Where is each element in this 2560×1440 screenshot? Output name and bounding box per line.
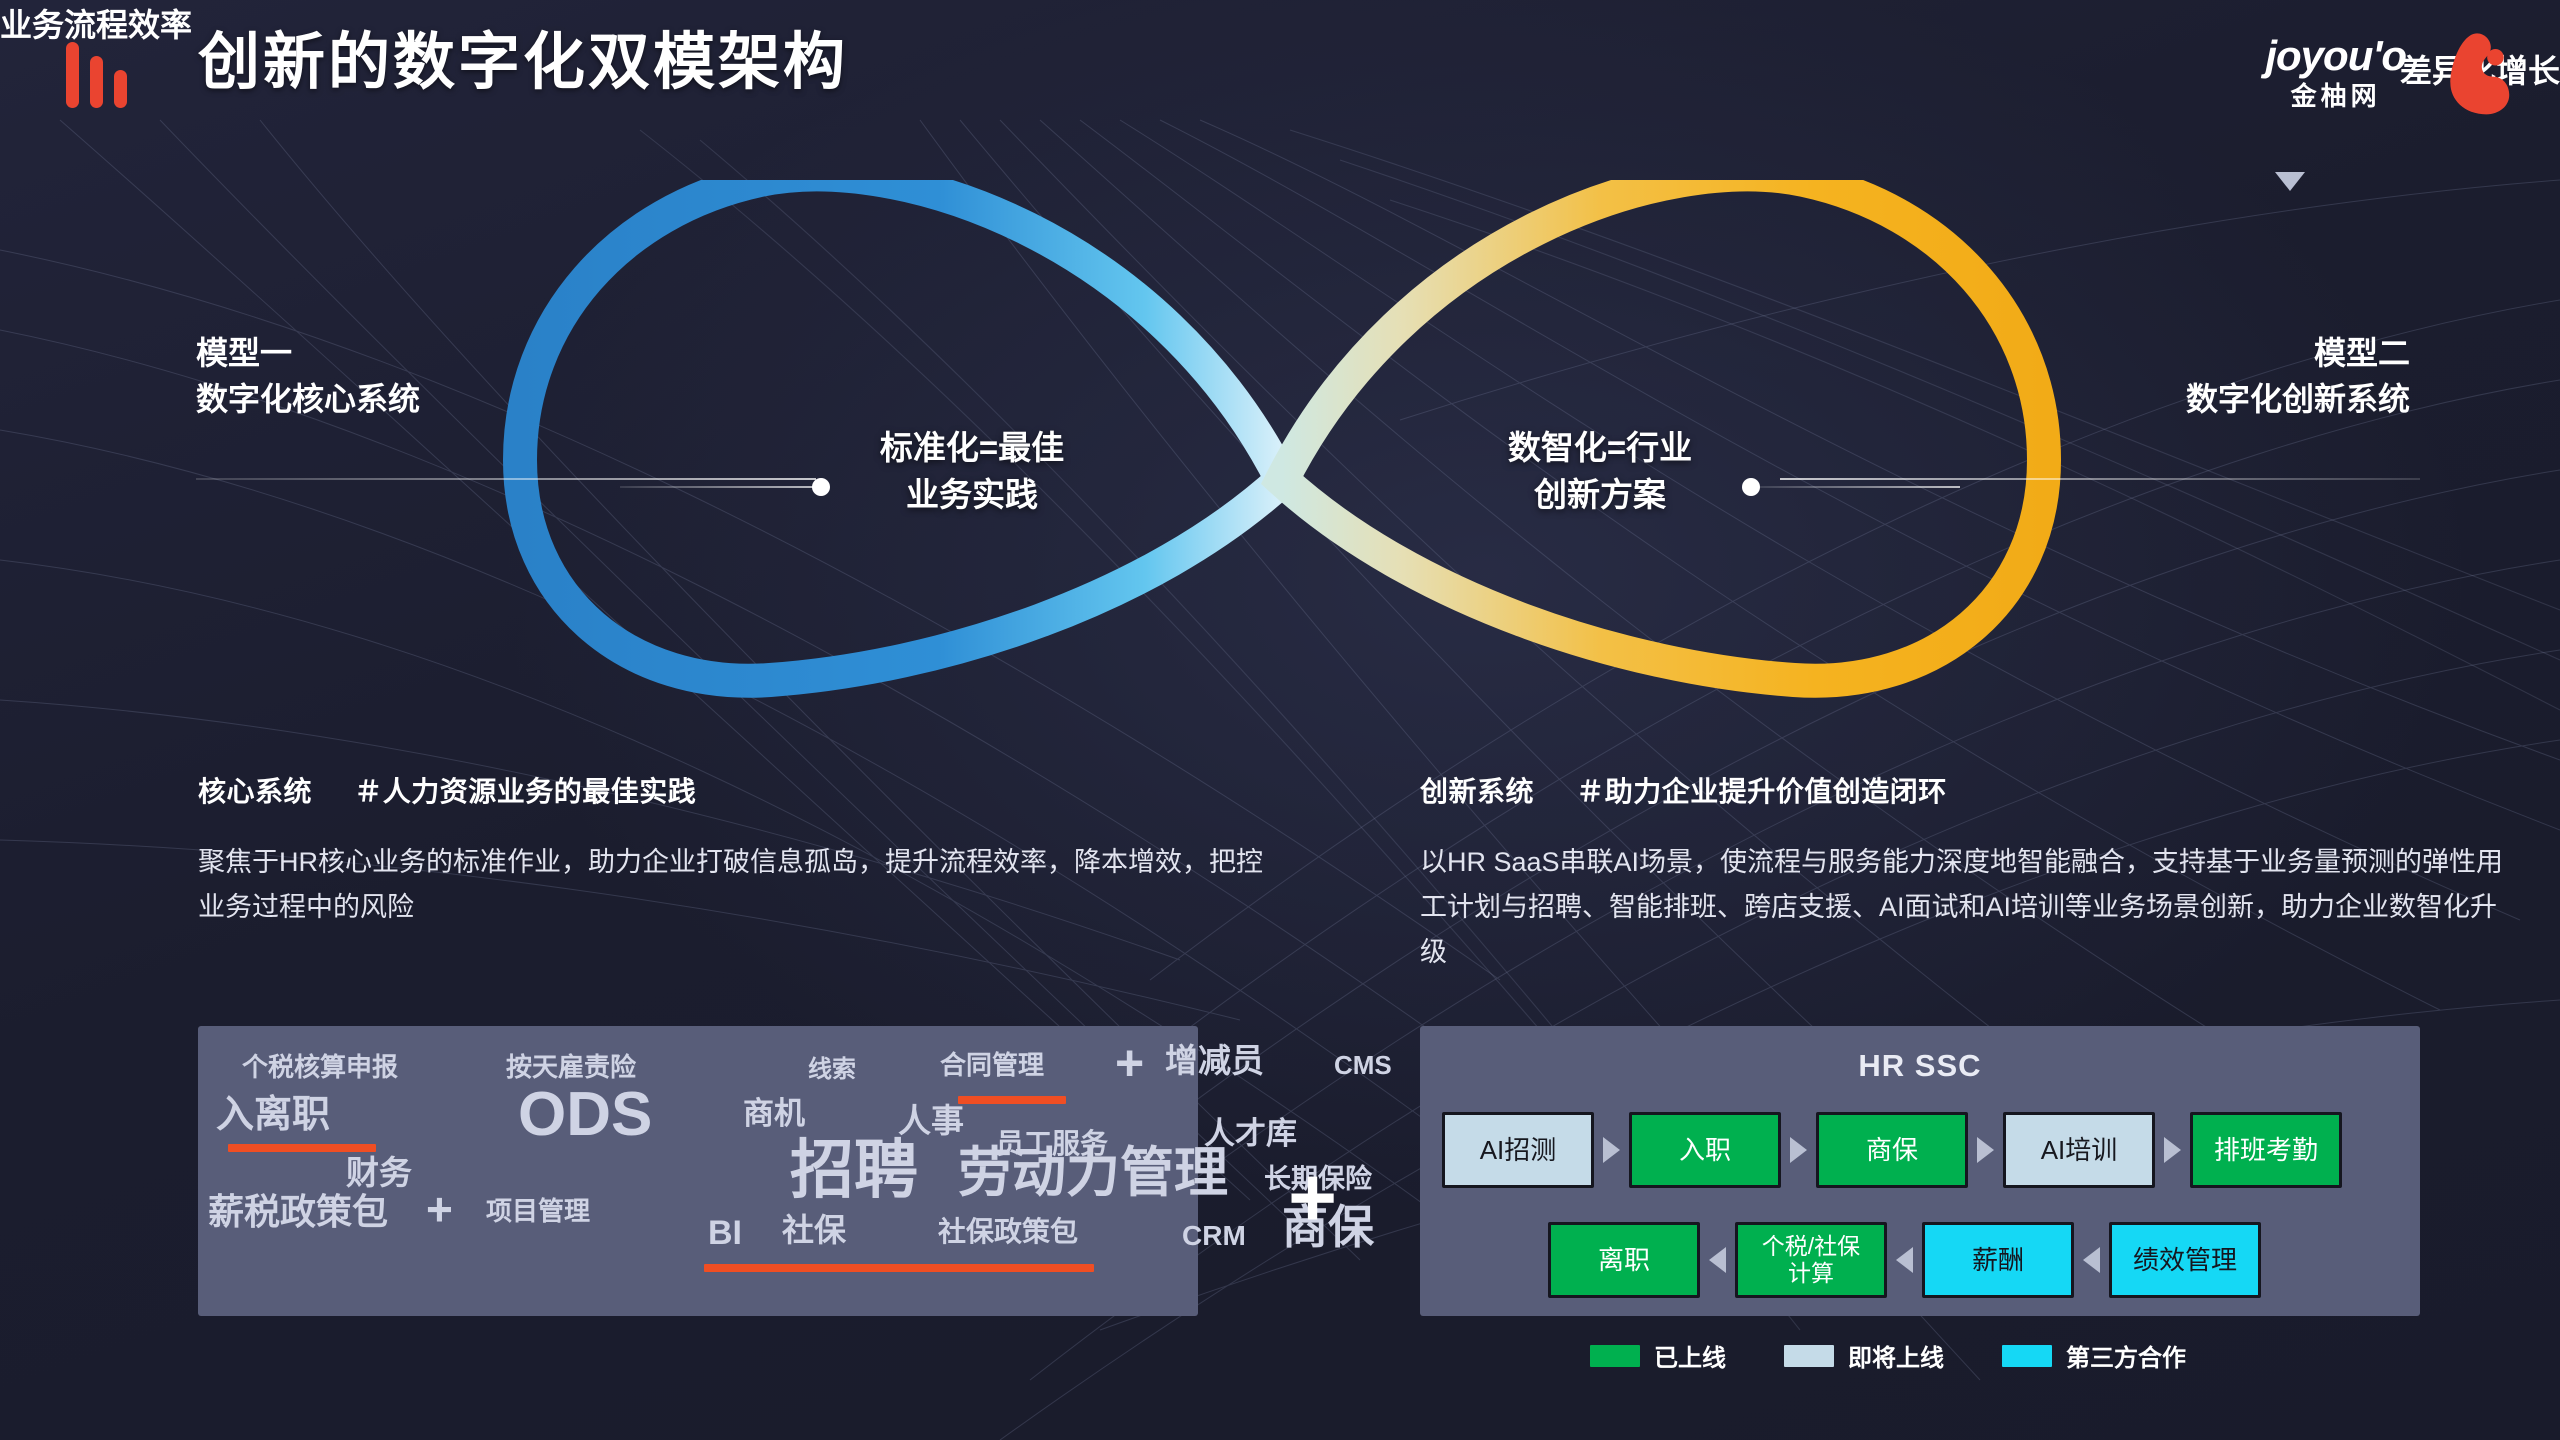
legend-swatch bbox=[1590, 1345, 1640, 1367]
flow-node[interactable]: 入职 bbox=[1629, 1112, 1781, 1188]
infinity-loop-diagram bbox=[0, 180, 2560, 740]
flow-node[interactable]: 排班考勤 bbox=[2190, 1112, 2342, 1188]
word-cloud-term: ODS bbox=[518, 1084, 652, 1146]
legend-item: 即将上线 bbox=[1784, 1338, 1944, 1373]
flow-arrow-icon bbox=[1896, 1247, 1913, 1273]
slide-root: 创新的数字化双模架构 joyou'o 金柚网 bbox=[0, 0, 2560, 1440]
core-system-heading: 核心系统 ＃人力资源业务的最佳实践 bbox=[198, 770, 1263, 810]
word-cloud-term: 个税核算申报 bbox=[242, 1054, 398, 1080]
right-model-label: 模型二 数字化创新系统 bbox=[2186, 330, 2410, 423]
left-model-label: 模型一 数字化核心系统 bbox=[196, 330, 420, 423]
word-cloud-term: 招聘 bbox=[790, 1138, 918, 1202]
flow-node[interactable]: 薪酬 bbox=[1922, 1222, 2074, 1298]
word-cloud-term: 增减员 bbox=[1165, 1044, 1264, 1077]
flow-arrow-icon bbox=[1603, 1137, 1620, 1163]
left-node-dot bbox=[812, 478, 830, 496]
right-center-line2: 创新方案 bbox=[1480, 472, 1720, 519]
flow-arrow-icon bbox=[1709, 1247, 1726, 1273]
word-cloud-term: 入离职 bbox=[216, 1096, 330, 1134]
right-center-line1: 数智化=行业 bbox=[1480, 425, 1720, 472]
left-center-line2: 业务实践 bbox=[852, 472, 1092, 519]
word-cloud-term: CMS bbox=[1334, 1052, 1392, 1078]
innovation-system-title: 创新系统 bbox=[1420, 776, 1534, 807]
word-cloud-term: 人事 bbox=[898, 1104, 964, 1137]
right-model-line1: 模型二 bbox=[2186, 330, 2410, 376]
legend-swatch bbox=[1784, 1345, 1834, 1367]
right-connector-line bbox=[1760, 486, 1960, 488]
word-cloud-term: + bbox=[426, 1186, 453, 1232]
page-title: 创新的数字化双模架构 bbox=[198, 24, 848, 102]
left-connector-line bbox=[620, 486, 820, 488]
legend-swatch bbox=[2002, 1345, 2052, 1367]
legend-item: 第三方合作 bbox=[2002, 1338, 2186, 1373]
word-cloud-term: 项目管理 bbox=[486, 1198, 590, 1224]
word-cloud-term: 按天雇责险 bbox=[506, 1054, 636, 1080]
flow-down-arrow-icon bbox=[2275, 172, 2305, 191]
word-cloud-term: + bbox=[1115, 1038, 1144, 1088]
panel-plus-sign: + bbox=[1288, 1155, 1337, 1239]
word-cloud-term: 线索 bbox=[808, 1058, 856, 1082]
left-center-line1: 标准化=最佳 bbox=[852, 425, 1092, 472]
flow-node[interactable]: AI培训 bbox=[2003, 1112, 2155, 1188]
flow-node[interactable]: 绩效管理 bbox=[2109, 1222, 2261, 1298]
word-cloud-underline bbox=[228, 1144, 376, 1152]
left-center-label: 标准化=最佳 业务实践 bbox=[852, 425, 1092, 519]
word-cloud-term: 商机 bbox=[743, 1098, 805, 1129]
innovation-system-heading: 创新系统 ＃助力企业提升价值创造闭环 bbox=[1420, 770, 2510, 810]
word-cloud-term: 劳动力管理 bbox=[958, 1146, 1228, 1200]
right-model-line2: 数字化创新系统 bbox=[2186, 376, 2410, 422]
flow-node[interactable]: AI招测 bbox=[1442, 1112, 1594, 1188]
legend-label: 已上线 bbox=[1654, 1338, 1726, 1373]
core-system-title: 核心系统 bbox=[198, 776, 312, 807]
flow-arrow-icon bbox=[1977, 1137, 1994, 1163]
legend-label: 第三方合作 bbox=[2066, 1338, 2186, 1373]
word-cloud-term: 薪税政策包 bbox=[208, 1194, 388, 1230]
left-model-line2: 数字化核心系统 bbox=[196, 376, 420, 422]
innovation-system-body: 以HR SaaS串联AI场景，使流程与服务能力深度地智能融合，支持基于业务量预测… bbox=[1420, 840, 2510, 974]
logo-chinese-name: 金柚网 bbox=[2291, 83, 2381, 109]
word-cloud-term: 社保政策包 bbox=[938, 1218, 1078, 1246]
word-cloud-underline bbox=[958, 1096, 1066, 1104]
word-cloud-panel: 个税核算申报按天雇责险线索合同管理+增减员CMS入离职ODS商机人事员工服务人才… bbox=[198, 1026, 1198, 1316]
flow-arrow-icon bbox=[2083, 1247, 2100, 1273]
flow-node[interactable]: 商保 bbox=[1816, 1112, 1968, 1188]
joyouo-mark-icon bbox=[2420, 26, 2512, 118]
right-node-dot bbox=[1742, 478, 1760, 496]
core-system-body: 聚焦于HR核心业务的标准作业，助力企业打破信息孤岛，提升流程效率，降本增效，把控… bbox=[198, 840, 1263, 930]
hr-ssc-title: HR SSC bbox=[1420, 1048, 2420, 1084]
logo-wordmark: joyou'o bbox=[2265, 35, 2406, 77]
legend-item: 已上线 bbox=[1590, 1338, 1726, 1373]
core-system-section: 核心系统 ＃人力资源业务的最佳实践 聚焦于HR核心业务的标准作业，助力企业打破信… bbox=[198, 770, 1263, 930]
brand-logo: joyou'o 金柚网 bbox=[2265, 26, 2512, 118]
core-system-tag: ＃人力资源业务的最佳实践 bbox=[354, 776, 696, 807]
flow-row-2: 离职个税/社保 计算薪酬绩效管理 bbox=[1548, 1222, 2261, 1298]
flow-arrow-icon bbox=[2164, 1137, 2181, 1163]
left-divider bbox=[196, 478, 816, 480]
flow-legend: 已上线即将上线第三方合作 bbox=[1590, 1338, 2186, 1373]
word-cloud-term: BI bbox=[708, 1216, 742, 1250]
right-divider bbox=[1780, 478, 2420, 480]
innovation-system-section: 创新系统 ＃助力企业提升价值创造闭环 以HR SaaS串联AI场景，使流程与服务… bbox=[1420, 770, 2510, 974]
innovation-system-tag: ＃助力企业提升价值创造闭环 bbox=[1576, 776, 1947, 807]
flow-arrow-icon bbox=[1790, 1137, 1807, 1163]
red-bars-icon bbox=[66, 36, 136, 108]
flow-node[interactable]: 个税/社保 计算 bbox=[1735, 1222, 1887, 1298]
word-cloud-term: CRM bbox=[1182, 1222, 1246, 1250]
word-cloud-term: 财务 bbox=[346, 1156, 412, 1189]
word-cloud-term: 合同管理 bbox=[940, 1052, 1044, 1078]
right-center-label: 数智化=行业 创新方案 bbox=[1480, 425, 1720, 519]
legend-label: 即将上线 bbox=[1848, 1338, 1944, 1373]
left-model-line1: 模型一 bbox=[196, 330, 420, 376]
flow-node[interactable]: 离职 bbox=[1548, 1222, 1700, 1298]
flow-row-1: AI招测入职商保AI培训排班考勤 bbox=[1442, 1112, 2342, 1188]
hr-ssc-flow-panel: HR SSC AI招测入职商保AI培训排班考勤 离职个税/社保 计算薪酬绩效管理 bbox=[1420, 1026, 2420, 1316]
word-cloud-term: 社保 bbox=[782, 1214, 846, 1246]
word-cloud-underline bbox=[704, 1264, 1094, 1272]
